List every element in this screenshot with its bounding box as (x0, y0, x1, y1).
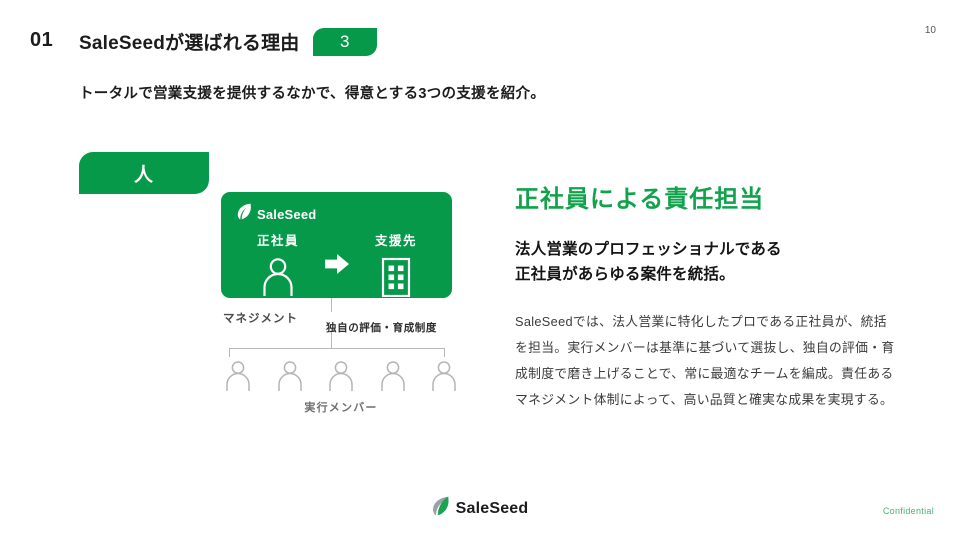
category-tab-people: 人 (79, 152, 209, 194)
concept-card: SaleSeed 正社員 支援先 (221, 192, 452, 298)
category-tab-label: 人 (134, 160, 154, 187)
card-left-label: 正社員 (236, 230, 320, 249)
card-column-client: 支援先 (354, 230, 438, 298)
arrow-right-icon (320, 252, 354, 276)
section-number: 01 (30, 29, 53, 52)
page-number: 10 (925, 25, 936, 36)
label-execution-members: 実行メンバー (221, 399, 461, 415)
content-subheading: 法人営業のプロフェッショナルである正社員があらゆる案件を統括。 (515, 237, 895, 287)
person-outline-icon (236, 256, 320, 298)
bracket-connector (229, 348, 445, 357)
label-evaluation-system: 独自の評価・育成制度 (326, 320, 437, 335)
card-logo: SaleSeed (237, 203, 316, 225)
content-column: 正社員による責任担当 法人営業のプロフェッショナルである正社員があらゆる案件を統… (515, 186, 895, 413)
person-outline-icon (378, 360, 408, 397)
leaf-logo-icon (237, 203, 252, 225)
card-logo-text: SaleSeed (257, 207, 316, 222)
sub-headline: トータルで営業支援を提供するなかで、得意とする3つの支援を紹介。 (79, 82, 545, 103)
connector-line-top (331, 298, 332, 312)
status-badge: 3 (313, 28, 377, 56)
org-chart: マネジメント 独自の評価・育成制度 (221, 298, 461, 418)
confidential-label: Confidential (883, 506, 934, 516)
footer-logo-text: SaleSeed (456, 500, 529, 518)
card-column-employee: 正社員 (236, 230, 320, 298)
building-icon (354, 256, 438, 298)
person-outline-icon (429, 360, 459, 397)
slide-header: 01 SaleSeedが選ばれる理由 3 10 トータルで営業支援を提供するなか… (0, 0, 960, 70)
footer-logo: SaleSeed (0, 496, 960, 521)
page-title: SaleSeedが選ばれる理由 (79, 28, 300, 55)
leaf-logo-icon (432, 496, 450, 521)
content-body: SaleSeedでは、法人営業に特化したプロである正社員が、統括を担当。実行メン… (515, 309, 895, 413)
card-right-label: 支援先 (354, 230, 438, 249)
person-outline-icon (223, 360, 253, 397)
content-heading: 正社員による責任担当 (515, 186, 895, 215)
person-outline-icon (275, 360, 305, 397)
label-management: マネジメント (223, 310, 298, 326)
member-icon-row (221, 360, 461, 397)
person-outline-icon (326, 360, 356, 397)
